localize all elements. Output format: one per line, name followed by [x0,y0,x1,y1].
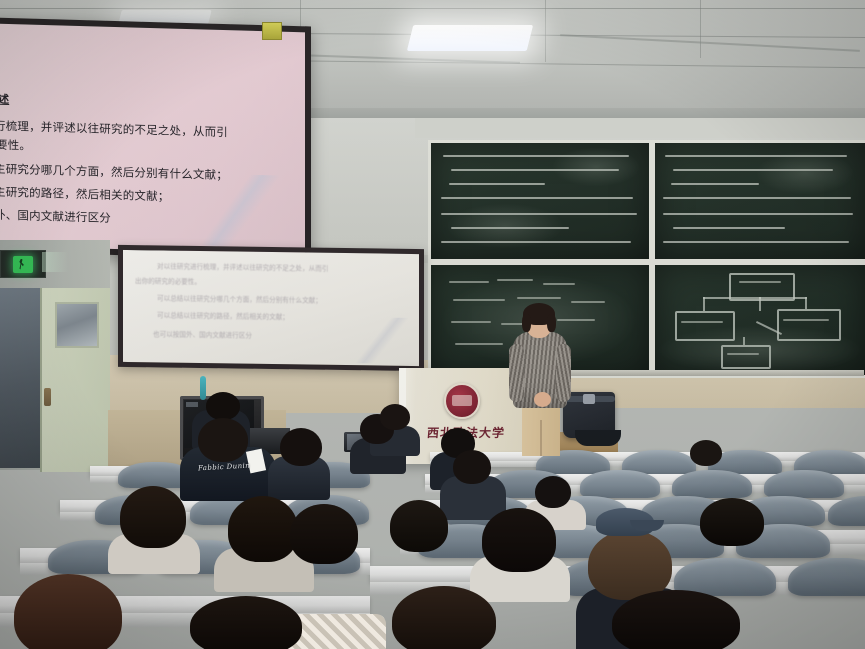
student-head [206,392,240,420]
student-head [198,418,248,462]
seat [580,470,660,498]
presenter-leg-split [540,420,542,456]
monitor-line-0: 对以往研究进行梳理，并评述以往研究的不足之处，从而引 [157,262,328,274]
screen-mount-bracket [262,22,282,40]
monitor-glint [186,402,198,407]
presenter-hair-left [522,314,531,332]
student-hair [290,504,358,564]
seat [672,470,752,498]
slide-line-0: 述 [0,92,9,109]
student-hair [700,498,764,546]
student-head [453,450,491,484]
slide-line-5: 外、国内文献进行区分 [0,207,111,228]
gooseneck-microphone [200,376,206,400]
confidence-monitor: 对以往研究进行梳理，并评述以往研究的不足之处，从而引 出你的研究的必要性。 可以… [118,245,424,371]
doorway-opening [0,288,42,468]
wall-upper-band [415,118,865,138]
exit-sign [0,250,46,278]
presenter-hands [534,392,551,407]
exit-sign-glow [42,252,68,272]
ceiling-light-panel [407,25,533,51]
blackboard-top-left [428,140,652,262]
backpack-lower [575,430,621,446]
seat [764,470,844,498]
running-person-icon [13,256,33,273]
door-handle[interactable] [44,388,51,406]
student-head [690,440,722,466]
monitor-line-2: 可以总结以往研究分哪几个方面，然后分别有什么文献； [157,294,322,306]
presenter-hair-right [547,314,556,332]
student-head [280,428,322,466]
blackboard-top-right [652,140,865,262]
blackboard-bottom-right [652,262,865,378]
university-crest-icon [444,383,480,419]
student-hair [228,496,298,562]
student-hair [588,530,672,600]
monitor-line-3: 可以总结以往研究的路径，然后相关的文献； [157,311,289,322]
projection-screen: 述 行梳理，并评述以往研究的不足之处，从而引 要性。 主研究分哪几个方面，然后分… [0,18,311,261]
student-hair-foreground [14,574,122,649]
student-hair-foreground [190,596,302,649]
student-hair-foreground [612,590,740,649]
slide-line-4: 主研究的路径，然后相关的文献； [0,184,170,206]
student-head [535,476,571,508]
door-window [55,302,99,348]
slide-line-3: 主研究分哪几个方面，然后分别有什么文献； [0,161,228,185]
student-hair [120,486,186,548]
student-head [380,404,410,430]
monitor-line-1: 出你的研究的必要性。 [135,277,201,287]
slide-line-2: 要性。 [0,137,31,155]
presenter-right-arm [556,344,571,402]
monitor-glare [335,317,415,364]
screen-glare [169,173,299,249]
presenter-left-arm [509,344,524,402]
student-hair-foreground [392,586,496,649]
seat [788,558,865,596]
student-hair [482,508,556,572]
student-hair [390,500,448,552]
backpack-buckle [583,394,595,404]
lecture-hall-photo: 述 行梳理，并评述以往研究的不足之处，从而引 要性。 主研究分哪几个方面，然后分… [0,0,865,649]
monitor-line-4: 也可以按国外、国内文献进行区分 [153,330,252,341]
slide-line-1: 行梳理，并评述以往研究的不足之处，从而引 [0,118,228,142]
